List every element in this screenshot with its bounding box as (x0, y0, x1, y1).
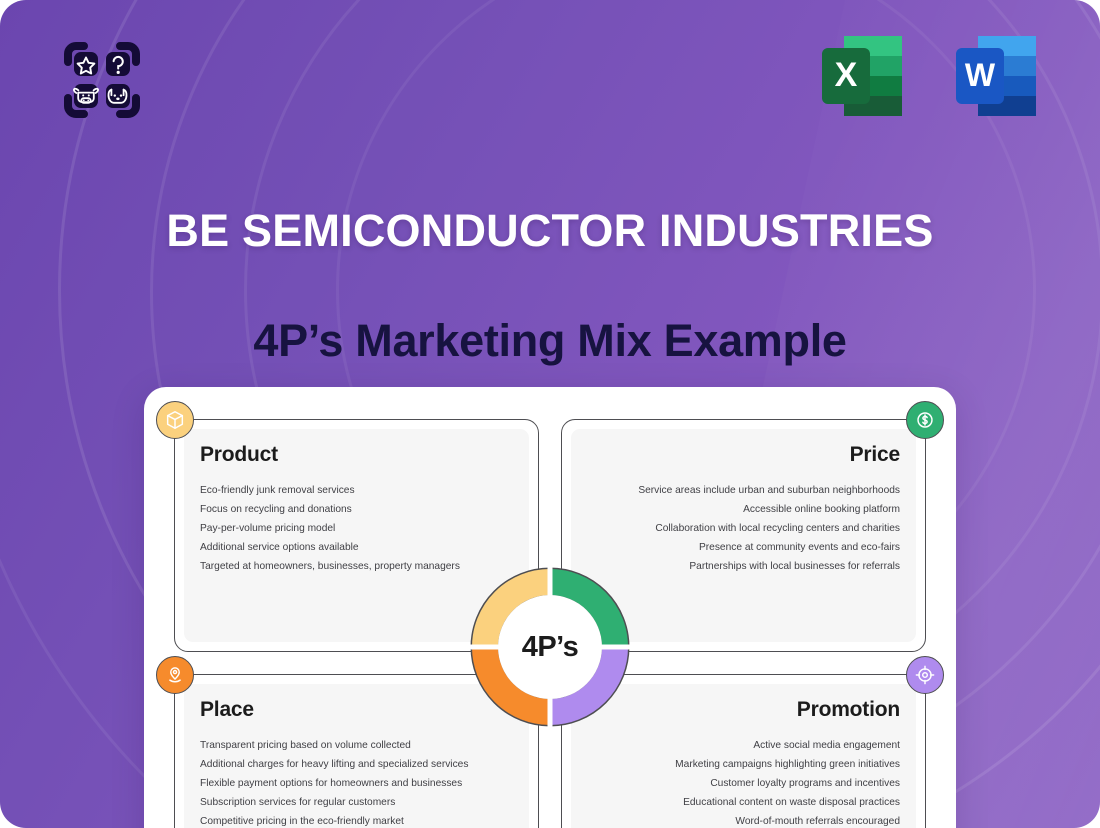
target-icon (906, 656, 944, 694)
list-item: Educational content on waste disposal pr… (683, 793, 900, 812)
excel-icon-letter: X (835, 56, 858, 94)
donut-chart: 4P’s (462, 559, 638, 735)
list-item: Marketing campaigns highlighting green i… (675, 755, 900, 774)
list-item: Subscription services for regular custom… (200, 793, 513, 812)
quadrant-list: Active social media engagement Marketing… (587, 736, 900, 828)
list-item: Additional charges for heavy lifting and… (200, 755, 513, 774)
list-item: Pay-per-volume pricing model (200, 519, 513, 538)
list-item: Presence at community events and eco-fai… (699, 538, 900, 557)
page-title: 4P’s Marketing Mix Example (0, 315, 1100, 367)
word-icon-letter: W (965, 57, 996, 93)
donut-center: 4P’s (498, 595, 602, 699)
list-item: Flexible payment options for homeowners … (200, 774, 513, 793)
scan-pets-logo (50, 28, 154, 132)
quadrant-list: Transparent pricing based on volume coll… (200, 736, 513, 828)
list-item: Eco-friendly junk removal services (200, 481, 513, 500)
company-title: BE SEMICONDUCTOR INDUSTRIES (0, 205, 1100, 257)
marketing-mix-card: Product Eco-friendly junk removal servic… (144, 387, 956, 828)
quadrant-title: Promotion (797, 698, 900, 722)
dollar-coin-icon (906, 401, 944, 439)
list-item: Customer loyalty programs and incentives (710, 774, 900, 793)
word-icon[interactable]: W (948, 28, 1044, 124)
list-item: Competitive pricing in the eco-friendly … (200, 812, 513, 828)
list-item: Partnerships with local businesses for r… (689, 557, 900, 576)
list-item: Focus on recycling and donations (200, 500, 513, 519)
list-item: Word-of-mouth referrals encouraged (735, 812, 900, 828)
list-item: Collaboration with local recycling cente… (655, 519, 900, 538)
poster-root: X W BE SEMICONDUCTOR INDUSTRIES 4P’s Mar… (0, 0, 1100, 828)
list-item: Additional service options available (200, 538, 513, 557)
list-item: Transparent pricing based on volume coll… (200, 736, 513, 755)
excel-icon[interactable]: X (814, 28, 910, 124)
donut-center-label: 4P’s (522, 631, 579, 664)
quadrant-title: Product (200, 443, 278, 467)
quadrant-title: Price (850, 443, 900, 467)
quadrant-title: Place (200, 698, 254, 722)
office-icon-group: X W (814, 28, 1044, 124)
list-item: Active social media engagement (753, 736, 900, 755)
list-item: Service areas include urban and suburban… (638, 481, 900, 500)
list-item: Accessible online booking platform (743, 500, 900, 519)
location-pin-icon (156, 656, 194, 694)
box-icon (156, 401, 194, 439)
